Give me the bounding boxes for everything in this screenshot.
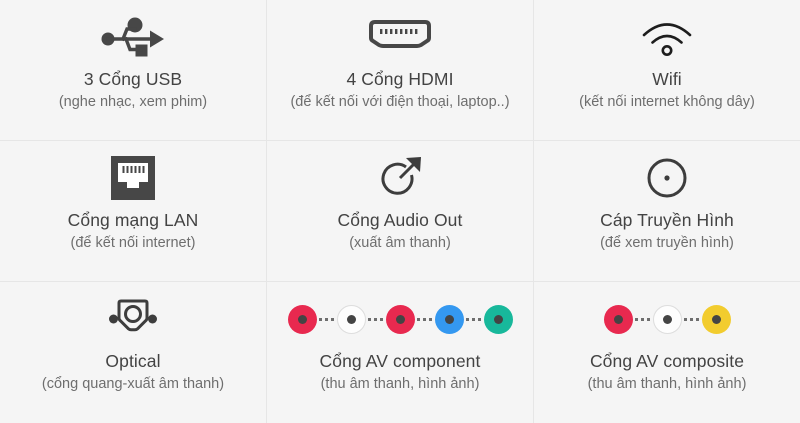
- audio-out-icon: [375, 151, 425, 205]
- plug-pin: [663, 315, 672, 324]
- lan-port-icon: [110, 151, 156, 205]
- plug-connector: [435, 305, 464, 334]
- feature-title: 3 Cổng USB: [84, 68, 182, 92]
- plug-row: [604, 305, 731, 334]
- cable-dots: [684, 318, 700, 321]
- cable-dots: [635, 318, 651, 321]
- cable-dots: [319, 318, 335, 321]
- cable-dots: [417, 318, 433, 321]
- tv-ports-feature-grid: 3 Cổng USB (nghe nhạc, xem phim) 4 Cổng …: [0, 0, 800, 423]
- feature-title: Cổng mạng LAN: [68, 209, 199, 233]
- feature-title: Cổng Audio Out: [338, 209, 463, 233]
- plug-pin: [712, 315, 721, 324]
- feature-subtitle: (để kết nối internet): [71, 234, 196, 254]
- plug-connector: [653, 305, 682, 334]
- feature-subtitle: (thu âm thanh, hình ảnh): [321, 375, 480, 395]
- plug-connector: [288, 305, 317, 334]
- feature-cell-optical: Optical (cổng quang-xuất âm thanh): [0, 282, 267, 423]
- plug-connector: [484, 305, 513, 334]
- hdmi-port-icon: [363, 10, 437, 64]
- feature-cell-wifi: Wifi (kết nối internet không dây): [534, 0, 800, 141]
- cable-dots: [368, 318, 384, 321]
- cable-dots: [466, 318, 482, 321]
- feature-subtitle: (xuất âm thanh): [349, 234, 451, 254]
- feature-title: 4 Cổng HDMI: [346, 68, 453, 92]
- feature-cell-usb: 3 Cổng USB (nghe nhạc, xem phim): [0, 0, 267, 141]
- feature-subtitle: (để kết nối với điện thoại, laptop..): [290, 93, 509, 113]
- feature-title: Cổng AV composite: [590, 350, 744, 374]
- feature-subtitle: (nghe nhạc, xem phim): [59, 93, 207, 113]
- plug-pin: [396, 315, 405, 324]
- plug-pin: [614, 315, 623, 324]
- feature-subtitle: (để xem truyền hình): [600, 234, 734, 254]
- plug-pin: [298, 315, 307, 324]
- av-composite-plugs-icon: [604, 292, 731, 346]
- feature-cell-lan: Cổng mạng LAN (để kết nối internet): [0, 141, 267, 282]
- plug-connector: [337, 305, 366, 334]
- feature-title: Cáp Truyền Hình: [600, 209, 734, 233]
- wifi-icon: [639, 10, 695, 64]
- feature-cell-audio-out: Cổng Audio Out (xuất âm thanh): [267, 141, 534, 282]
- plug-connector: [604, 305, 633, 334]
- plug-connector: [386, 305, 415, 334]
- feature-subtitle: (kết nối internet không dây): [579, 93, 755, 113]
- feature-cell-av-composite: Cổng AV composite (thu âm thanh, hình ản…: [534, 282, 800, 423]
- plug-pin: [494, 315, 503, 324]
- feature-cell-coaxial: Cáp Truyền Hình (để xem truyền hình): [534, 141, 800, 282]
- feature-title: Optical: [105, 350, 160, 374]
- feature-cell-hdmi: 4 Cổng HDMI (để kết nối với điện thoại, …: [267, 0, 534, 141]
- optical-port-icon: [107, 292, 159, 346]
- feature-cell-av-component: Cổng AV component (thu âm thanh, hình ản…: [267, 282, 534, 423]
- coaxial-cable-icon: [645, 151, 689, 205]
- av-component-plugs-icon: [288, 292, 513, 346]
- plug-pin: [347, 315, 356, 324]
- plug-connector: [702, 305, 731, 334]
- plug-pin: [445, 315, 454, 324]
- usb-icon: [100, 10, 166, 64]
- feature-title: Wifi: [652, 68, 682, 92]
- feature-subtitle: (thu âm thanh, hình ảnh): [588, 375, 747, 395]
- feature-title: Cổng AV component: [320, 350, 481, 374]
- plug-row: [288, 305, 513, 334]
- feature-subtitle: (cổng quang-xuất âm thanh): [42, 375, 224, 395]
